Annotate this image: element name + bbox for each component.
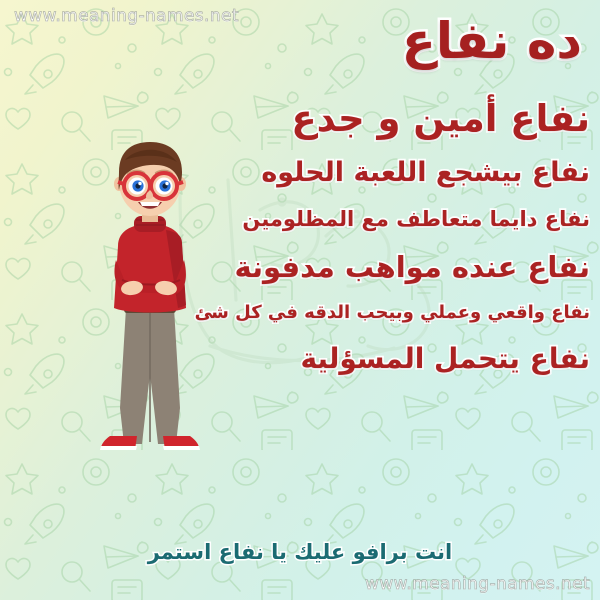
meaning-lines-list: نفاع أمين و جدع نفاع بيشجع اللعبة الحلوه… [6,100,590,373]
page-title: ده نفاع [402,16,582,66]
name-meaning-card: www.meaning-names.net www.meaning-names.… [0,0,600,600]
meaning-line: نفاع عنده مواهب مدفونة [6,252,590,282]
bottom-caption: انت برافو عليك يا نفاع استمر [0,540,600,564]
meaning-line: نفاع دايما متعاطف مع المظلومين [6,208,590,230]
meaning-line: نفاع واقعي وعملي وبيحب الدقه في كل شئ [6,304,590,323]
meaning-line: نفاع بيشجع اللعبة الحلوه [6,159,590,187]
watermark-top-left: www.meaning-names.net [14,6,239,26]
meaning-line: نفاع يتحمل المسؤلية [6,344,590,373]
meaning-line: نفاع أمين و جدع [6,100,590,139]
watermark-bottom-right: www.meaning-names.net [365,574,590,594]
